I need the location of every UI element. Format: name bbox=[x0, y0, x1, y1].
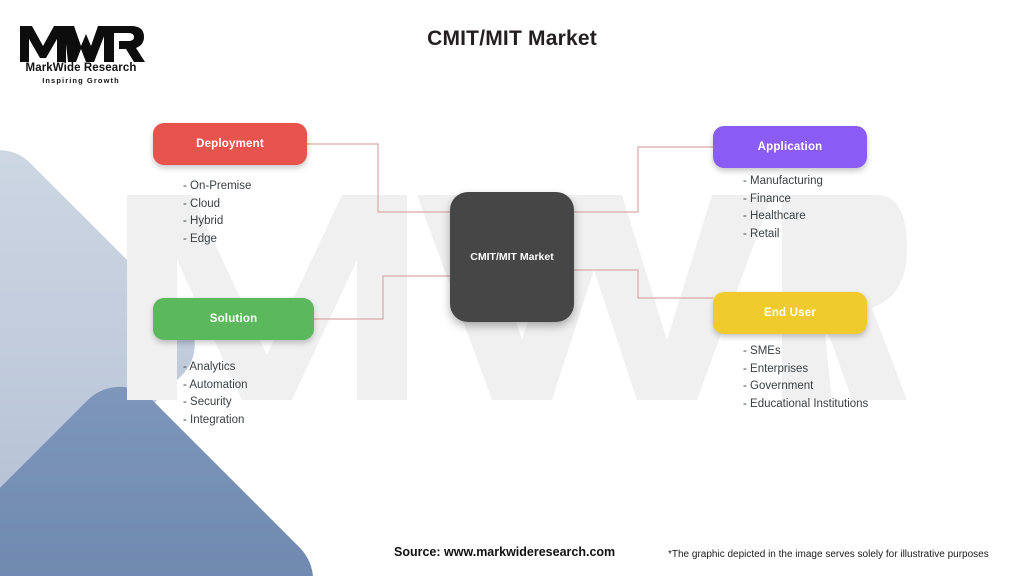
branch-label-deployment: Deployment bbox=[196, 138, 264, 150]
hub-node-label: CMIT/MIT Market bbox=[470, 251, 553, 263]
infographic-canvas: MarkWide Research Inspiring Growth CMIT/… bbox=[0, 0, 1024, 576]
list-item: - Manufacturing bbox=[743, 173, 823, 191]
list-item: - SMEs bbox=[743, 343, 868, 361]
branch-node-deployment[interactable]: Deployment bbox=[153, 123, 307, 165]
branch-node-application[interactable]: Application bbox=[713, 126, 867, 168]
branch-label-end-user: End User bbox=[764, 307, 816, 319]
list-item: - Automation bbox=[183, 377, 248, 395]
page-title: CMIT/MIT Market bbox=[0, 27, 1024, 51]
list-item: - On-Premise bbox=[183, 178, 251, 196]
branch-label-solution: Solution bbox=[210, 313, 258, 325]
branch-label-application: Application bbox=[758, 141, 823, 153]
branch-node-solution[interactable]: Solution bbox=[153, 298, 314, 340]
branch-items-deployment: - On-Premise - Cloud - Hybrid - Edge bbox=[183, 178, 251, 248]
hub-node[interactable]: CMIT/MIT Market bbox=[450, 192, 574, 322]
list-item: - Hybrid bbox=[183, 213, 251, 231]
branch-node-end-user[interactable]: End User bbox=[713, 292, 867, 334]
list-item: - Analytics bbox=[183, 359, 248, 377]
list-item: - Edge bbox=[183, 231, 251, 249]
source-text: Source: www.markwideresearch.com bbox=[394, 545, 615, 559]
list-item: - Integration bbox=[183, 412, 248, 430]
list-item: - Educational Institutions bbox=[743, 396, 868, 414]
list-item: - Retail bbox=[743, 226, 823, 244]
branch-items-solution: - Analytics - Automation - Security - In… bbox=[183, 359, 248, 429]
branch-items-application: - Manufacturing - Finance - Healthcare -… bbox=[743, 173, 823, 243]
list-item: - Government bbox=[743, 378, 868, 396]
list-item: - Enterprises bbox=[743, 361, 868, 379]
branch-items-end-user: - SMEs - Enterprises - Government - Educ… bbox=[743, 343, 868, 413]
list-item: - Security bbox=[183, 394, 248, 412]
logo-tagline: Inspiring Growth bbox=[16, 76, 146, 85]
logo-company-name: MarkWide Research bbox=[16, 62, 146, 74]
list-item: - Finance bbox=[743, 191, 823, 209]
list-item: - Healthcare bbox=[743, 208, 823, 226]
disclaimer-text: *The graphic depicted in the image serve… bbox=[668, 549, 989, 560]
list-item: - Cloud bbox=[183, 196, 251, 214]
